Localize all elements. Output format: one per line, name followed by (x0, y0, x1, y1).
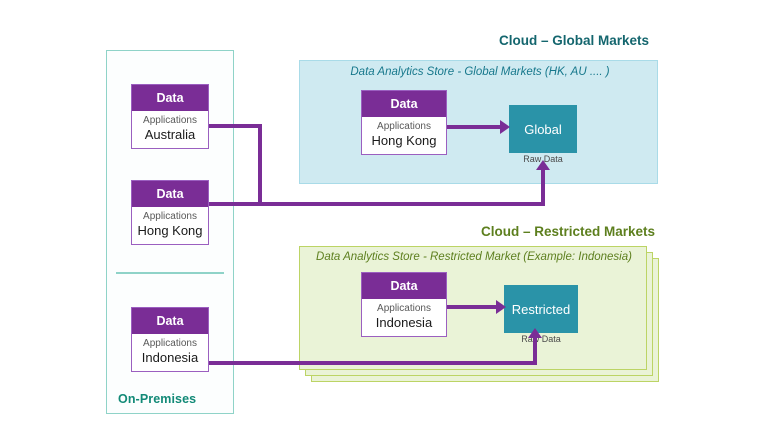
connector-restricted-riser (533, 336, 537, 365)
data-card-indonesia-cloud-subtitle: Applications (362, 303, 446, 315)
data-card-indonesia-cloud-body: Applications Indonesia (362, 299, 446, 336)
connector-australia-vertical (258, 124, 262, 206)
restricted-markets-panel-title: Data Analytics Store - Restricted Market… (308, 251, 640, 263)
connector-australia-horizontal (209, 124, 262, 128)
data-card-hong-kong-onprem-title: Hong Kong (132, 223, 208, 239)
raw-data-box-global[interactable]: Global (509, 105, 577, 153)
data-card-indonesia-onprem-title: Indonesia (132, 350, 208, 366)
data-card-australia-body: Applications Australia (132, 111, 208, 148)
arrow-up-icon-global (536, 160, 550, 170)
data-card-hong-kong-cloud-subtitle: Applications (362, 121, 446, 133)
data-card-hong-kong-cloud[interactable]: Data Applications Hong Kong (361, 90, 447, 155)
connector-hong-kong-trunk (209, 202, 545, 206)
connector-global-riser (541, 168, 545, 206)
data-card-hong-kong-onprem-body: Applications Hong Kong (132, 207, 208, 244)
data-card-indonesia-cloud-header: Data (362, 273, 446, 299)
data-card-hong-kong-onprem[interactable]: Data Applications Hong Kong (131, 180, 209, 245)
data-card-hong-kong-onprem-subtitle: Applications (132, 211, 208, 223)
data-card-australia[interactable]: Data Applications Australia (131, 84, 209, 149)
data-card-indonesia-cloud-title: Indonesia (362, 315, 446, 331)
global-markets-panel-title: Data Analytics Store - Global Markets (H… (310, 66, 650, 78)
on-premises-label: On-Premises (118, 392, 238, 406)
cloud-restricted-markets-heading: Cloud – Restricted Markets (481, 224, 655, 239)
arrow-up-icon-restricted (528, 328, 542, 338)
data-card-hong-kong-onprem-header: Data (132, 181, 208, 207)
data-card-indonesia-onprem-header: Data (132, 308, 208, 334)
connector-indonesia-trunk (209, 361, 537, 365)
on-premises-divider (116, 272, 224, 274)
data-card-hong-kong-cloud-title: Hong Kong (362, 133, 446, 149)
arrow-right-icon-restricted (496, 300, 506, 314)
data-card-australia-header: Data (132, 85, 208, 111)
raw-data-box-restricted[interactable]: Restricted (504, 285, 578, 333)
diagram-canvas: On-Premises Data Applications Australia … (0, 0, 768, 447)
data-card-indonesia-onprem-body: Applications Indonesia (132, 334, 208, 371)
data-card-indonesia-cloud[interactable]: Data Applications Indonesia (361, 272, 447, 337)
data-card-hong-kong-cloud-header: Data (362, 91, 446, 117)
connector-global-internal (447, 125, 501, 129)
data-card-australia-subtitle: Applications (132, 115, 208, 127)
data-card-australia-title: Australia (132, 127, 208, 143)
connector-restricted-internal (447, 305, 497, 309)
global-markets-panel (299, 60, 658, 184)
arrow-right-icon-global (500, 120, 510, 134)
data-card-hong-kong-cloud-body: Applications Hong Kong (362, 117, 446, 154)
data-card-indonesia-onprem[interactable]: Data Applications Indonesia (131, 307, 209, 372)
data-card-indonesia-onprem-subtitle: Applications (132, 338, 208, 350)
cloud-global-markets-heading: Cloud – Global Markets (499, 33, 649, 48)
